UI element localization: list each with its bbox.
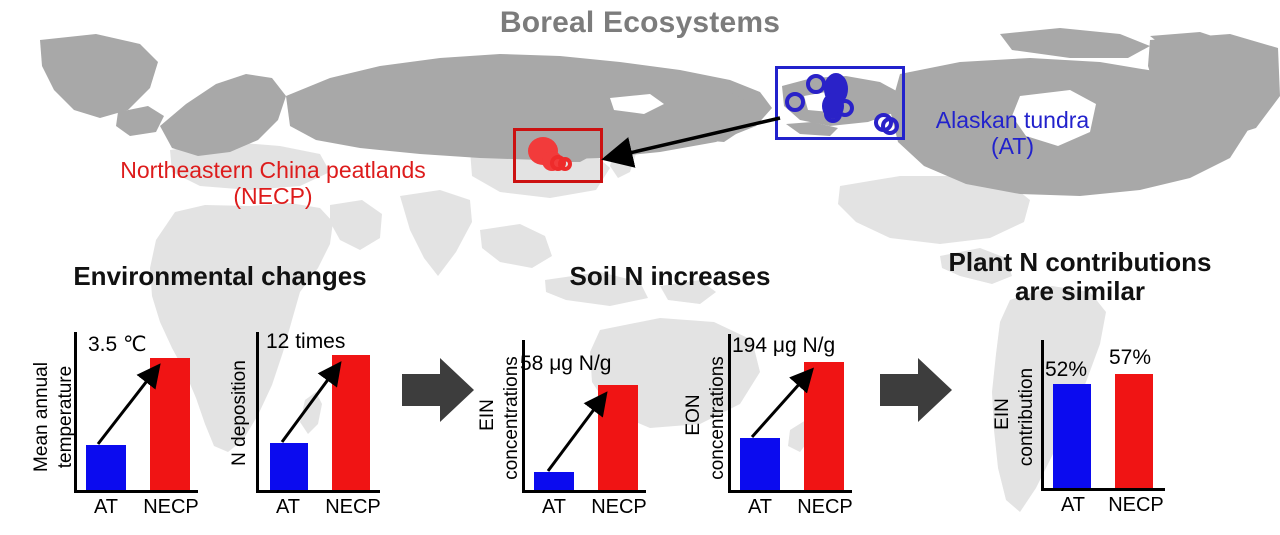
chart-y-axis: [1041, 340, 1044, 488]
flow-arrow-1-icon: [402, 358, 474, 422]
sample-site-marker: [558, 157, 572, 171]
bar-necp: [1115, 374, 1153, 488]
flow-arrow-2-icon: [880, 358, 952, 422]
sample-site-marker: [881, 117, 899, 135]
chart-x-tick-at: AT: [74, 496, 138, 519]
chart-ein-concentrations: EIN concentrations 58 μg N/g AT NECP: [470, 340, 670, 535]
chart-ein-contribution: EIN contribution 52% 57% AT NECP: [985, 340, 1185, 535]
chart-eon-concentrations: EON concentrations 194 μg N/g AT NECP: [676, 332, 876, 535]
region-label-alaskan-tundra: Alaskan tundra (AT): [905, 108, 1120, 160]
chart-x-tick-necp: NECP: [136, 496, 206, 519]
chart-mean-annual-temperature: Mean annual temperature 3.5 ℃ AT NECP: [10, 330, 210, 530]
bar-at: [1053, 384, 1091, 488]
sample-site-marker: [785, 92, 805, 112]
chart-y-axis-label-line2: contribution: [1017, 352, 1037, 482]
chart-x-tick-at: AT: [1041, 494, 1105, 517]
sample-site-marker: [806, 74, 826, 94]
chart-x-tick-at: AT: [522, 496, 586, 519]
chart-n-deposition: N deposition 12 times AT NECP: [208, 330, 408, 530]
bar-value-label-necp: 57%: [1109, 346, 1151, 370]
chart-x-tick-at: AT: [256, 496, 320, 519]
region-label-line1: Alaskan tundra: [905, 108, 1120, 134]
chart-annotation: 3.5 ℃: [88, 332, 147, 357]
section-heading-soil-n-increases: Soil N increases: [495, 262, 845, 291]
chart-x-tick-at: AT: [728, 496, 792, 519]
section-heading-environmental-changes: Environmental changes: [10, 262, 430, 291]
connector-arrow-at-to-necp: [590, 118, 790, 178]
region-label-line2: (NECP): [38, 184, 508, 210]
region-label-line2: (AT): [905, 134, 1120, 160]
sample-site-marker: [824, 105, 842, 123]
chart-x-tick-necp: NECP: [790, 496, 860, 519]
chart-annotation: 194 μg N/g: [732, 334, 835, 358]
bar-value-label-at: 52%: [1045, 358, 1087, 382]
chart-x-tick-necp: NECP: [318, 496, 388, 519]
chart-x-axis: [1041, 488, 1165, 491]
chart-annotation: 12 times: [266, 330, 345, 354]
page-title: Boreal Ecosystems: [0, 6, 1280, 40]
region-label-northeastern-china-peatlands: Northeastern China peatlands (NECP): [38, 158, 508, 210]
region-label-line1: Northeastern China peatlands: [38, 158, 508, 184]
chart-x-tick-necp: NECP: [584, 496, 654, 519]
section-heading-plant-n-contributions: Plant N contributions are similar: [880, 248, 1280, 305]
chart-x-tick-necp: NECP: [1101, 494, 1171, 517]
chart-y-axis-label: EIN: [993, 354, 1013, 474]
chart-annotation: 58 μg N/g: [520, 352, 612, 376]
